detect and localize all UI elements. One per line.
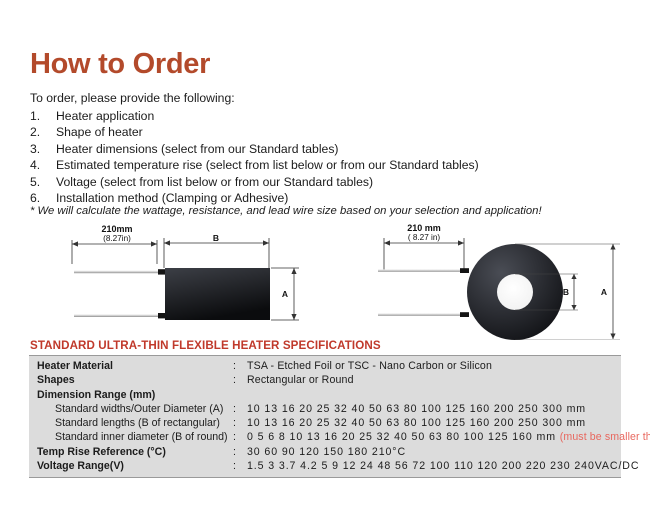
svg-text:A: A xyxy=(601,287,607,297)
row-value: 30 60 90 120 150 180 210°C xyxy=(247,445,621,459)
svg-text:B: B xyxy=(213,233,219,243)
round-lead-length-in: ( 8.27 in) xyxy=(389,233,459,243)
list-item: 4. Estimated temperature rise (select fr… xyxy=(30,157,620,173)
list-item-number: 3. xyxy=(30,141,56,157)
footnote-text: * We will calculate the wattage, resista… xyxy=(30,205,542,217)
row-value: 10 13 16 20 25 32 40 50 63 80 100 125 16… xyxy=(247,416,621,430)
row-value: 1.5 3 3.7 4.2 5 9 12 24 48 56 72 100 110… xyxy=(247,459,639,473)
row-colon: : xyxy=(233,459,247,473)
row-label: Standard widths/Outer Diameter (A) xyxy=(37,402,233,416)
table-row: Shapes : Rectangular or Round xyxy=(29,373,621,387)
list-item-label: Voltage (select from list below or from … xyxy=(56,174,620,190)
row-value: 10 13 16 20 25 32 40 50 63 80 100 125 16… xyxy=(247,402,621,416)
svg-text:B: B xyxy=(563,287,569,297)
list-item-label: Heater dimensions (select from our Stand… xyxy=(56,141,620,157)
row-value: 0 5 6 8 10 13 16 20 25 32 40 50 63 80 10… xyxy=(247,431,556,443)
row-label: Voltage Range(V) xyxy=(37,459,233,473)
row-label: Heater Material xyxy=(37,359,233,373)
row-label: Temp Rise Reference (°C) xyxy=(37,445,233,459)
rect-lead-length-mm: 210mm xyxy=(82,224,152,234)
list-item-number: 5. xyxy=(30,174,56,190)
rect-lead-length-label: 210mm (8.27in) xyxy=(82,224,152,244)
row-colon: : xyxy=(233,373,247,387)
page-title: How to Order xyxy=(30,50,210,79)
row-value-note: (must be smaller than A) xyxy=(560,431,650,443)
row-colon: : xyxy=(233,402,247,416)
list-item-label: Shape of heater xyxy=(56,124,620,140)
table-row: Voltage Range(V) : 1.5 3 3.7 4.2 5 9 12 … xyxy=(29,459,621,473)
table-row: Standard lengths (B of rectangular) : 10… xyxy=(29,416,621,430)
table-row: Heater Material : TSA - Etched Foil or T… xyxy=(29,359,621,373)
rectangular-heater-diagram: B A 210mm (8.27in) xyxy=(60,228,350,340)
row-label: Shapes xyxy=(37,373,233,387)
row-value: Rectangular or Round xyxy=(247,373,621,387)
list-item-label: Heater application xyxy=(56,108,620,124)
list-item-number: 6. xyxy=(30,190,56,206)
list-item: 2. Shape of heater xyxy=(30,124,620,140)
list-item-label: Installation method (Clamping or Adhesiv… xyxy=(56,190,620,206)
list-item: 3. Heater dimensions (select from our St… xyxy=(30,141,620,157)
row-label: Standard inner diameter (B of round) xyxy=(37,430,233,444)
intro-text: To order, please provide the following: xyxy=(30,91,235,105)
list-item: 6. Installation method (Clamping or Adhe… xyxy=(30,190,620,206)
list-item-label: Estimated temperature rise (select from … xyxy=(56,157,620,173)
spec-table: Heater Material : TSA - Etched Foil or T… xyxy=(29,355,621,478)
list-item-number: 1. xyxy=(30,108,56,124)
rect-lead-length-in: (8.27in) xyxy=(82,234,152,244)
table-row: Dimension Range (mm) xyxy=(29,388,621,402)
round-heater-diagram: B A 210 mm ( 8.27 in) xyxy=(372,228,650,340)
list-item: 5. Voltage (select from list below or fr… xyxy=(30,174,620,190)
table-row: Standard inner diameter (B of round) : 0… xyxy=(29,430,621,444)
how-to-order-page: How to Order To order, please provide th… xyxy=(0,0,650,523)
list-item-number: 4. xyxy=(30,157,56,173)
table-row: Temp Rise Reference (°C) : 30 60 90 120 … xyxy=(29,445,621,459)
list-item: 1. Heater application xyxy=(30,108,620,124)
row-colon: : xyxy=(233,416,247,430)
row-value: TSA - Etched Foil or TSC - Nano Carbon o… xyxy=(247,359,621,373)
list-item-number: 2. xyxy=(30,124,56,140)
row-label: Dimension Range (mm) xyxy=(37,388,233,402)
row-label: Standard lengths (B of rectangular) xyxy=(37,416,233,430)
round-lead-length-mm: 210 mm xyxy=(389,223,459,233)
product-diagrams: B A 210mm (8.27in) xyxy=(0,228,650,340)
table-row: Standard widths/Outer Diameter (A) : 10 … xyxy=(29,402,621,416)
row-colon: : xyxy=(233,430,247,444)
spec-table-title: STANDARD ULTRA-THIN FLEXIBLE HEATER SPEC… xyxy=(30,339,381,352)
row-colon: : xyxy=(233,445,247,459)
order-steps-list: 1. Heater application 2. Shape of heater… xyxy=(30,108,620,206)
row-colon: : xyxy=(233,359,247,373)
svg-text:A: A xyxy=(282,289,288,299)
round-lead-length-label: 210 mm ( 8.27 in) xyxy=(389,223,459,243)
